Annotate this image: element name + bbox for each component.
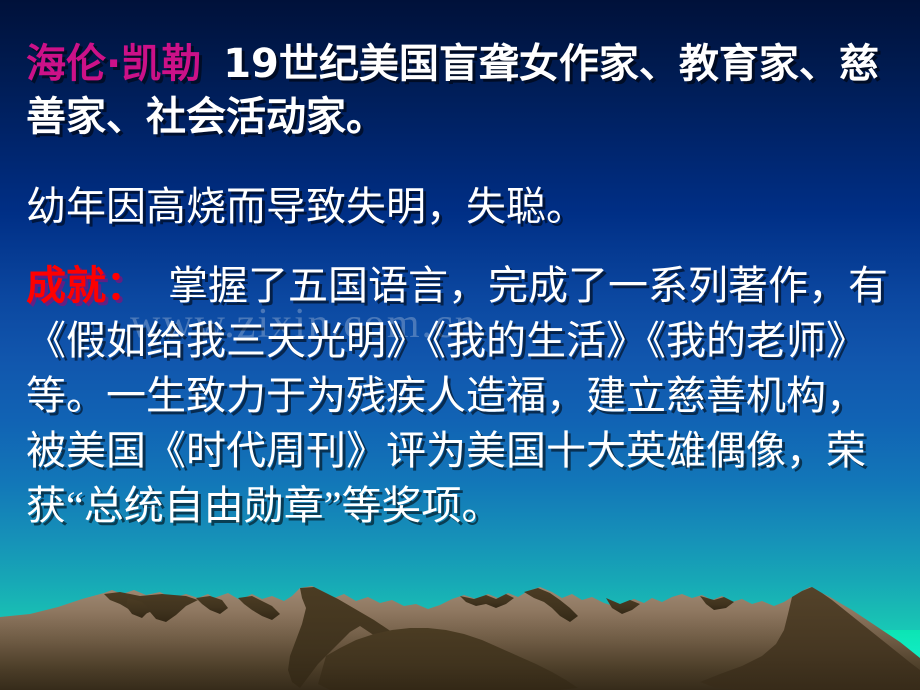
paragraph-intro: 海伦·凯勒19世纪美国盲聋女作家、教育家、慈善家、社会活动家。 bbox=[26, 38, 896, 144]
mountain-range-graphic bbox=[0, 570, 920, 690]
paragraph-achievements: 成就：掌握了五国语言，完成了一系列著作，有《假如给我三天光明》《我的生活》《我的… bbox=[26, 258, 902, 533]
paragraph-childhood-body: 幼年因高烧而导致失明，失聪。 bbox=[26, 184, 586, 229]
presentation-slide: www.zixin.com.cn bbox=[0, 0, 920, 690]
paragraph-childhood: 幼年因高烧而导致失明，失聪。 bbox=[26, 180, 896, 233]
paragraph-achievements-body: 掌握了五国语言，完成了一系列著作，有《假如给我三天光明》《我的生活》《我的老师》… bbox=[26, 263, 888, 528]
achievement-label: 成就： bbox=[26, 263, 146, 308]
person-name-highlight: 海伦·凯勒 bbox=[26, 41, 201, 87]
